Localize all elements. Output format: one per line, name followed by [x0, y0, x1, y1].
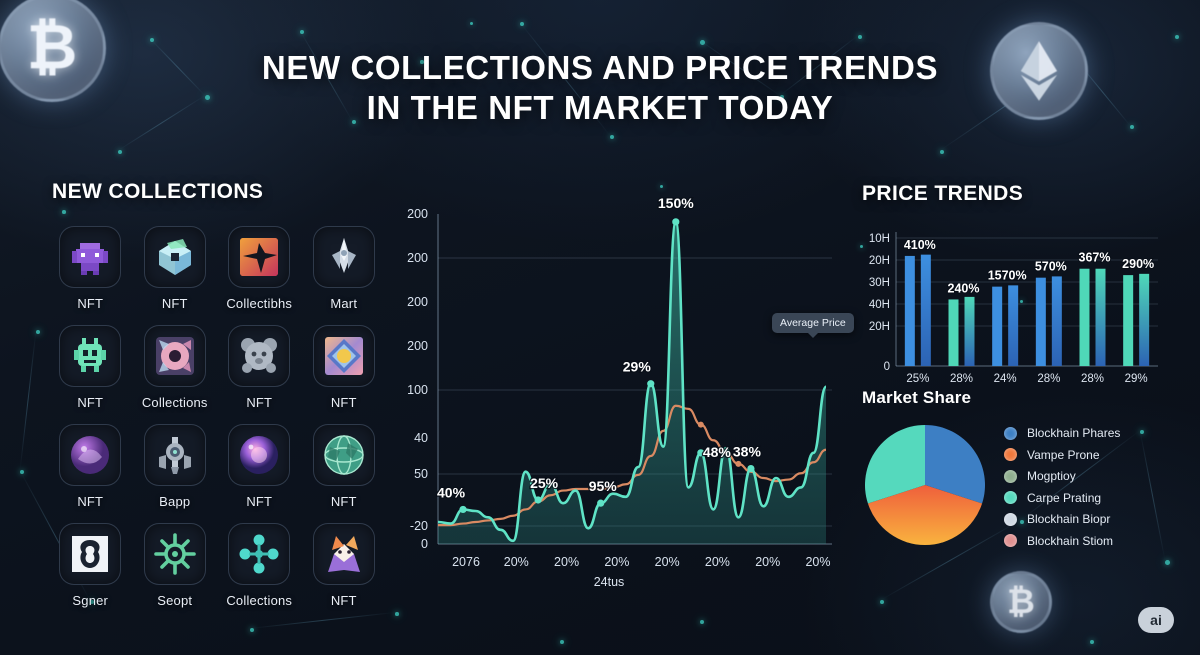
collection-tile-label: Collections — [142, 395, 208, 410]
new-collections-heading: NEW COLLECTIONS — [52, 180, 382, 204]
collection-tile[interactable]: NFT — [221, 325, 298, 410]
pixel-alien-purple-icon — [59, 226, 121, 288]
collection-tile[interactable]: Seopt — [137, 523, 214, 608]
legend-color-dot — [1004, 534, 1017, 547]
line-chart-point[interactable] — [535, 496, 542, 503]
legend-label: Carpe Prating — [1027, 491, 1101, 505]
abstract-burst-orange-icon — [228, 226, 290, 288]
bar-chart-value-label: 1570% — [988, 269, 1027, 283]
bar-chart-y-tick: 0 — [884, 361, 890, 373]
collection-tile[interactable]: NFT — [52, 424, 129, 509]
legend-color-dot — [1004, 427, 1017, 440]
network-dot — [1090, 640, 1094, 644]
legend-label: Blockhain Stiom — [1027, 534, 1113, 548]
bar-chart-bar[interactable] — [1052, 276, 1062, 366]
legend-color-dot — [1004, 470, 1017, 483]
legend-color-dot — [1004, 491, 1017, 504]
legend-item[interactable]: Blockhain Phares — [1004, 426, 1120, 440]
collection-tile[interactable]: Sgner — [52, 523, 129, 608]
rocket-probe-icon — [144, 424, 206, 486]
network-dot — [560, 640, 564, 644]
pie-chart-svg[interactable] — [862, 422, 988, 548]
legend-label: Blockhain Biopr — [1027, 512, 1110, 526]
collection-tile-label: NFT — [246, 395, 272, 410]
title-line-1: NEW COLLECTIONS AND PRICE TRENDS — [0, 48, 1200, 88]
line-chart-y-tick: 200 — [407, 251, 428, 265]
line-chart-point-label: 48% — [703, 444, 732, 460]
collection-tile[interactable]: Collectibhs — [221, 226, 298, 311]
collection-tile-label: NFT — [331, 395, 357, 410]
line-chart-y-tick: 50 — [414, 467, 428, 481]
average-price-tooltip: Average Price — [772, 313, 854, 333]
purple-orb-icon — [59, 424, 121, 486]
collections-grid: NFTNFTCollectibhsMartNFTCollectionsNFTNF… — [52, 226, 382, 608]
line-chart-y-tick: -20 — [410, 519, 428, 533]
collection-tile-label: NFT — [77, 395, 103, 410]
bar-chart-bar[interactable] — [949, 299, 959, 366]
market-share-heading: Market Share — [862, 388, 1172, 408]
line-chart-point[interactable] — [672, 218, 679, 225]
bar-chart-x-tick: 25% — [906, 373, 929, 385]
bar-chart-y-tick: 30H — [869, 277, 890, 289]
market-share-legend: Blockhain PharesVampe ProneMogptioyCarpe… — [1004, 422, 1120, 555]
collection-tile-label: NFT — [246, 494, 272, 509]
collection-tile-label: Collections — [226, 593, 292, 608]
network-dot — [610, 135, 614, 139]
network-dot — [36, 330, 40, 334]
network-dot — [1175, 35, 1179, 39]
bar-chart-bar[interactable] — [965, 297, 975, 366]
line-chart-point-label: 29% — [623, 359, 652, 375]
bar-chart-bar[interactable] — [1139, 274, 1149, 366]
bitcoin-coin-small-icon: ₿ — [990, 571, 1052, 633]
network-dot — [1165, 560, 1170, 565]
bar-chart-bar[interactable] — [921, 255, 931, 366]
title-line-2: IN THE NFT MARKET TODAY — [0, 88, 1200, 128]
bar-chart-y-tick: 20H — [869, 321, 890, 333]
new-collections-panel: NEW COLLECTIONS NFTNFTCollectibhsMartNFT… — [52, 180, 382, 608]
bar-chart-bar[interactable] — [1008, 285, 1018, 366]
ai-watermark-badge: ai — [1138, 607, 1174, 633]
legend-label: Mogptioy — [1027, 469, 1076, 483]
legend-label: Vampe Prone — [1027, 448, 1100, 462]
bar-chart-value-label: 240% — [948, 281, 980, 295]
diamond-sun-icon — [313, 325, 375, 387]
collection-tile-label: Mart — [330, 296, 357, 311]
grey-bear-icon — [228, 325, 290, 387]
collection-tile[interactable]: NFT — [306, 523, 383, 608]
collection-tile[interactable]: NFT — [306, 424, 383, 509]
collection-tile-label: NFT — [77, 494, 103, 509]
collection-tile[interactable]: NFT — [52, 226, 129, 311]
bar-chart-x-tick: 29% — [1125, 373, 1148, 385]
line-chart-point[interactable] — [747, 465, 754, 472]
line-chart-x-tick: 20% — [655, 555, 680, 569]
network-dot — [660, 185, 663, 188]
fox-avatar-icon — [313, 523, 375, 585]
line-chart-x-tick: 20% — [755, 555, 780, 569]
bar-chart-y-tick: 20H — [869, 255, 890, 267]
line-chart-x-axis-title: 24tus — [594, 575, 625, 586]
line-chart-y-tick: 40 — [414, 431, 428, 445]
bar-chart-bar[interactable] — [1096, 269, 1106, 366]
collection-tile-label: NFT — [162, 296, 188, 311]
collection-tile-label: Collectibhs — [226, 296, 292, 311]
line-chart-svg[interactable]: 2002002002001004050-20040%25%95%29%150%4… — [392, 196, 844, 586]
white-knot-icon — [59, 523, 121, 585]
legend-item[interactable]: Blockhain Biopr — [1004, 512, 1120, 526]
network-line — [20, 330, 37, 470]
line-chart-x-tick: 20% — [604, 555, 629, 569]
market-share-panel: Market Share Blockhain PharesVampe Prone… — [862, 388, 1172, 555]
collection-tile[interactable]: NFT — [52, 325, 129, 410]
page-title: NEW COLLECTIONS AND PRICE TRENDS IN THE … — [0, 48, 1200, 129]
nebula-sphere-icon — [228, 424, 290, 486]
collection-tile[interactable]: Bapp — [137, 424, 214, 509]
collection-tile-label: Bapp — [159, 494, 190, 509]
collection-tile[interactable]: NFT — [137, 226, 214, 311]
price-trends-bar-chart[interactable]: 10H20H30H40H20H0410%25%240%28%1570%24%57… — [862, 226, 1162, 396]
line-chart-x-tick: 2076 — [452, 555, 480, 569]
line-chart-y-tick: 0 — [421, 537, 428, 551]
line-chart-point[interactable] — [597, 500, 604, 507]
line-chart-point[interactable] — [647, 380, 654, 387]
collection-tile[interactable]: Mart — [306, 226, 383, 311]
bar-chart-svg[interactable]: 10H20H30H40H20H0410%25%240%28%1570%24%57… — [862, 226, 1162, 396]
bar-chart-y-tick: 40H — [869, 299, 890, 311]
line-chart-y-tick: 200 — [407, 295, 428, 309]
bar-chart-x-tick: 24% — [994, 373, 1017, 385]
bar-chart-y-tick: 10H — [869, 233, 890, 245]
collection-tile-label: Sgner — [72, 593, 108, 608]
legend-item[interactable]: Carpe Prating — [1004, 491, 1120, 505]
legend-color-dot — [1004, 513, 1017, 526]
bar-chart-x-tick: 28% — [1037, 373, 1060, 385]
line-chart-x-tick: 20% — [705, 555, 730, 569]
bar-chart-x-tick: 28% — [1081, 373, 1104, 385]
network-line — [250, 612, 395, 629]
line-chart-point-label: 95% — [589, 478, 618, 494]
collection-tile[interactable]: NFT — [221, 424, 298, 509]
bar-chart-bar[interactable] — [905, 256, 915, 366]
network-dot — [700, 620, 704, 624]
line-chart-y-tick: 100 — [407, 383, 428, 397]
pixel-invader-green-icon — [59, 325, 121, 387]
legend-color-dot — [1004, 448, 1017, 461]
bar-chart-bar[interactable] — [1123, 275, 1133, 366]
network-dot — [470, 22, 473, 25]
network-dot — [395, 612, 399, 616]
collection-tile[interactable]: Collections — [137, 325, 214, 410]
market-share-pie-chart[interactable] — [862, 422, 988, 548]
pink-ring-icon — [144, 325, 206, 387]
line-chart-x-tick: 20% — [805, 555, 830, 569]
line-chart-point-label: 40% — [437, 484, 466, 500]
collection-tile-label: Seopt — [157, 593, 192, 608]
teal-cluster-icon — [228, 523, 290, 585]
bar-chart-bar[interactable] — [992, 287, 1002, 366]
legend-item[interactable]: Blockhain Stiom — [1004, 534, 1120, 548]
price-trend-line-chart[interactable]: 2002002002001004050-20040%25%95%29%150%4… — [392, 196, 844, 586]
legend-label: Blockhain Phares — [1027, 426, 1120, 440]
bar-chart-value-label: 290% — [1122, 257, 1154, 271]
green-sunburst-icon — [144, 523, 206, 585]
dashboard-canvas: ₿ ₿ NEW COLLECTIONS AND PRICE TRENDS IN … — [0, 0, 1200, 655]
collection-tile-label: NFT — [77, 296, 103, 311]
price-trends-panel: PRICE TRENDS 10H20H30H40H20H0410%25%240%… — [862, 182, 1162, 396]
line-chart-y-tick: 200 — [407, 339, 428, 353]
collection-tile-label: NFT — [331, 494, 357, 509]
legend-item[interactable]: Vampe Prone — [1004, 448, 1120, 462]
average-price-point[interactable] — [735, 461, 741, 467]
line-chart-y-tick: 200 — [407, 207, 428, 221]
line-chart-point-label: 38% — [733, 444, 762, 460]
bitcoin-glyph-small: ₿ — [1007, 585, 1035, 619]
line-chart-point-label: 25% — [530, 475, 559, 491]
line-chart-x-tick: 20% — [554, 555, 579, 569]
bar-chart-value-label: 570% — [1035, 260, 1067, 274]
price-trends-heading: PRICE TRENDS — [862, 182, 1162, 206]
bar-chart-value-label: 367% — [1079, 251, 1111, 265]
collection-tile-label: NFT — [331, 593, 357, 608]
bar-chart-bar[interactable] — [1036, 278, 1046, 366]
spaceship-icon — [313, 226, 375, 288]
teal-globe-icon — [313, 424, 375, 486]
collection-tile[interactable]: Collections — [221, 523, 298, 608]
line-chart-x-tick: 20% — [504, 555, 529, 569]
market-share-body: Blockhain PharesVampe ProneMogptioyCarpe… — [862, 422, 1172, 555]
crystal-cube-icon — [144, 226, 206, 288]
bar-chart-x-tick: 28% — [950, 373, 973, 385]
bar-chart-value-label: 410% — [904, 238, 936, 252]
bar-chart-bar[interactable] — [1080, 269, 1090, 366]
legend-item[interactable]: Mogptioy — [1004, 469, 1120, 483]
line-chart-point[interactable] — [459, 506, 466, 513]
line-chart-point-label: 150% — [658, 196, 694, 211]
collection-tile[interactable]: NFT — [306, 325, 383, 410]
average-price-point[interactable] — [698, 422, 704, 428]
